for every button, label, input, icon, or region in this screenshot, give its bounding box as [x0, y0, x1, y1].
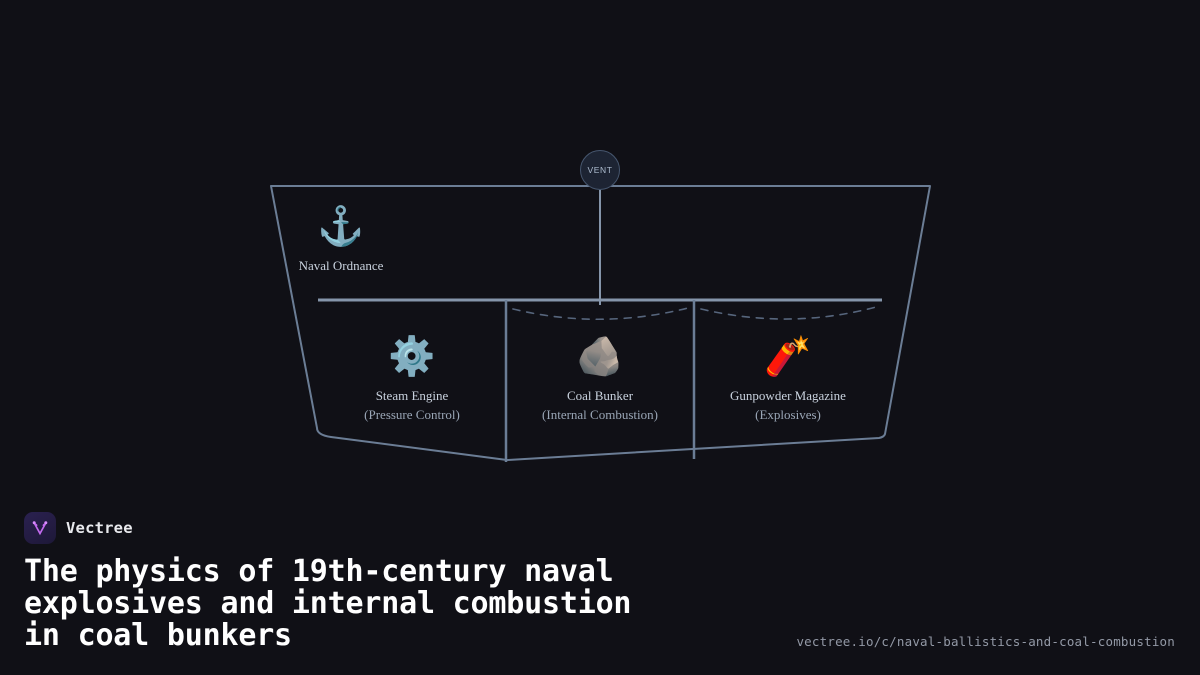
node-sublabel: (Internal Combustion)	[542, 407, 658, 423]
node-label: Coal Bunker	[567, 388, 633, 404]
article-url: vectree.io/c/naval-ballistics-and-coal-c…	[796, 634, 1175, 649]
node-label: Gunpowder Magazine	[730, 388, 846, 404]
node-steam-engine[interactable]: ⚙️ Steam Engine (Pressure Control)	[336, 334, 488, 423]
diagram-canvas: VENT ⚓ Naval Ordnance ⚙️ Steam Engine (P…	[0, 0, 1200, 500]
node-label: Steam Engine	[376, 388, 449, 404]
rock-icon: 🪨	[576, 334, 623, 382]
vent-badge[interactable]: VENT	[580, 150, 620, 190]
node-naval-ordnance[interactable]: ⚓ Naval Ordnance	[265, 204, 417, 274]
node-sublabel: (Explosives)	[755, 407, 821, 423]
node-sublabel: (Pressure Control)	[364, 407, 460, 423]
anchor-icon: ⚓	[317, 204, 364, 252]
dynamite-icon: 🧨	[764, 334, 811, 382]
gear-icon: ⚙️	[388, 334, 435, 382]
dashed-arc-coal-bunker	[513, 308, 688, 319]
dashed-arc-gunpowder	[701, 307, 876, 319]
brand-name: Vectree	[66, 519, 133, 537]
node-coal-bunker[interactable]: 🪨 Coal Bunker (Internal Combustion)	[524, 334, 676, 423]
node-label: Naval Ordnance	[299, 258, 384, 274]
vent-label: VENT	[587, 165, 612, 175]
node-gunpowder-magazine[interactable]: 🧨 Gunpowder Magazine (Explosives)	[712, 334, 864, 423]
brand-row: Vectree	[24, 510, 1176, 546]
ship-hull-diagram	[0, 0, 1200, 500]
vectree-v-logo-icon	[24, 512, 56, 544]
footer: Vectree The physics of 19th-century nava…	[0, 495, 1200, 675]
